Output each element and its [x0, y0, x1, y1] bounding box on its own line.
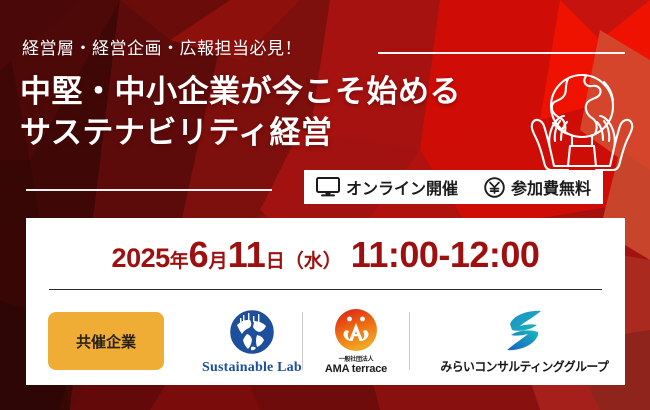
date-day-unit: 日 [266, 251, 285, 272]
monitor-icon [316, 177, 340, 197]
info-label-free: 参加費無料 [511, 175, 591, 199]
rule-top [378, 52, 625, 54]
info-item-free: 参加費無料 [484, 175, 591, 199]
date-weekday: （水） [285, 251, 342, 272]
date-month: 6 [189, 234, 209, 275]
sponsor-divider-1 [302, 312, 303, 370]
sponsor-logo-ama-terrace: 一般社団法人 AMA terrace [325, 298, 387, 384]
event-card: 2025年6月11日（水）11:00-12:00 共催企業 [26, 218, 625, 385]
date-day: 11 [228, 234, 266, 275]
sponsor-sub-ama-terrace: 一般社団法人 [339, 354, 374, 363]
kicker-text: 経営層・経営企画・広報担当必見！ [22, 34, 302, 59]
globe-blue-icon [227, 307, 277, 357]
rule-bottom [26, 189, 272, 191]
sponsor-logo-mirai: みらいコンサルティンググループ [436, 298, 613, 384]
page-title: 中堅・中小企業が今こそ始める サステナビリティ経営 [20, 72, 560, 154]
yen-circle-icon [484, 177, 505, 198]
info-item-online: オンライン開催 [316, 175, 458, 199]
sponsor-name-ama-terrace: AMA terrace [325, 363, 387, 375]
seminar-banner: 経営層・経営企画・広報担当必見！ 中堅・中小企業が今こそ始める サステナビリティ… [0, 0, 650, 410]
card-divider [49, 289, 602, 290]
sponsor-name-mirai: みらいコンサルティンググループ [440, 356, 608, 375]
date-month-unit: 月 [209, 251, 228, 272]
ama-face-icon [334, 308, 378, 352]
event-datetime: 2025年6月11日（水）11:00-12:00 [26, 234, 625, 276]
host-badge: 共催企業 [48, 312, 164, 370]
sponsor-name-sustainable-lab: Sustainable Lab [202, 360, 302, 376]
date-year-unit: 年 [170, 251, 189, 272]
host-badge-label: 共催企業 [76, 331, 136, 352]
date-year: 2025 [112, 243, 170, 273]
headline-line-2: サステナビリティ経営 [20, 113, 560, 154]
sponsor-row: 共催企業 [26, 298, 625, 384]
sponsor-divider-2 [409, 312, 410, 370]
headline-line-1: 中堅・中小企業が今こそ始める [20, 72, 560, 113]
event-time: 11:00-12:00 [351, 234, 540, 275]
globe-in-hands-icon [524, 66, 640, 172]
sponsor-logo-sustainable-lab: Sustainable Lab [202, 298, 302, 384]
mirai-bolt-icon [500, 308, 548, 352]
info-badge: オンライン開催 参加費無料 [304, 170, 603, 204]
info-label-online: オンライン開催 [346, 175, 458, 199]
